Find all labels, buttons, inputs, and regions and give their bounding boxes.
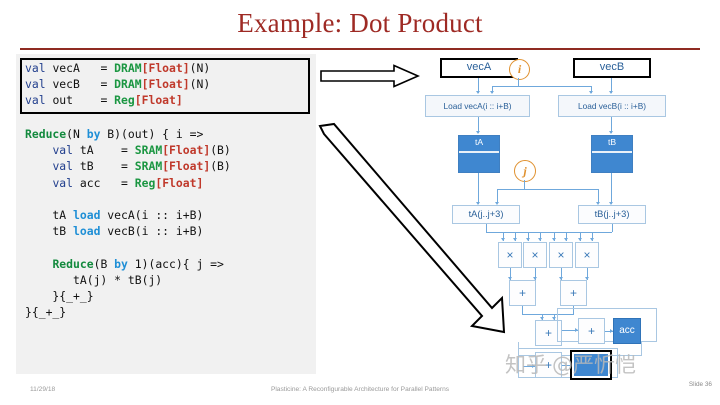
index-circle-i: i xyxy=(509,59,530,80)
arrowhead xyxy=(501,238,505,241)
node-load-veca[interactable]: Load vecA(i :: i+B) xyxy=(425,95,530,117)
arrowhead xyxy=(552,238,556,241)
node-sram-tb-label: tB xyxy=(608,138,616,147)
edge-i-stem xyxy=(518,78,519,86)
edge-ta-slice xyxy=(478,173,479,204)
sram-divider xyxy=(459,151,499,153)
node-adder-l1-1[interactable]: + xyxy=(509,280,536,306)
node-acc-adder[interactable]: + xyxy=(578,318,605,344)
sram-divider xyxy=(592,151,632,153)
node-slice-ta[interactable]: tA(j..j+3) xyxy=(452,205,520,224)
edge-sliceb-bus xyxy=(612,224,613,232)
node-multiplier-4[interactable]: × xyxy=(575,242,599,268)
node-sram-ta[interactable]: tA xyxy=(458,135,500,173)
node-dram-veca[interactable]: vecA xyxy=(440,58,518,78)
slide-canvas: Example: Dot Product val vecA = DRAM[Flo… xyxy=(0,0,720,405)
mult-feed-bus xyxy=(486,232,612,233)
index-circle-j: j xyxy=(514,160,536,182)
node-slice-tb[interactable]: tB(j..j+3) xyxy=(578,205,646,224)
arrowhead xyxy=(490,91,494,94)
arrowhead xyxy=(526,238,530,241)
edge-slicea-bus xyxy=(486,224,487,232)
node-out-register[interactable] xyxy=(570,350,612,380)
footer-slide-number: Slide 36 xyxy=(0,381,712,388)
edge-j-bus xyxy=(497,189,598,190)
edge-i-bus xyxy=(492,86,591,87)
edge-outadd-out xyxy=(562,365,570,366)
arrowhead xyxy=(590,238,594,241)
node-sram-ta-label: tA xyxy=(475,138,483,147)
accumulator-loop-frame xyxy=(557,308,657,342)
edge-a1-down xyxy=(522,306,523,314)
arrowhead xyxy=(476,131,480,134)
node-multiplier-2[interactable]: × xyxy=(523,242,547,268)
edge-j-left xyxy=(497,189,498,203)
node-acc-register[interactable]: acc xyxy=(613,318,641,344)
dataflow-diagram: vecA vecB i Load vecA(i :: i+B) Load vec… xyxy=(0,0,720,405)
node-load-vecb[interactable]: Load vecB(i :: i+B) xyxy=(558,95,666,117)
arrowhead xyxy=(589,91,593,94)
node-multiplier-1[interactable]: × xyxy=(498,242,522,268)
arrowhead xyxy=(538,238,542,241)
arrowhead xyxy=(578,238,582,241)
edge-tb-slice xyxy=(611,173,612,204)
arrowhead xyxy=(476,91,480,94)
node-dram-vecb[interactable]: vecB xyxy=(573,58,651,78)
node-adder-l1-2[interactable]: + xyxy=(560,280,587,306)
arrowhead xyxy=(609,91,613,94)
edge-j-right xyxy=(598,189,599,203)
node-sram-tb[interactable]: tB xyxy=(591,135,633,173)
arrowhead xyxy=(564,238,568,241)
out-register-fill xyxy=(574,354,608,376)
node-out-adder[interactable]: + xyxy=(535,352,562,378)
arrowhead xyxy=(609,131,613,134)
node-multiplier-3[interactable]: × xyxy=(549,242,573,268)
edge-j-stem xyxy=(524,180,525,189)
arrowhead xyxy=(513,238,517,241)
